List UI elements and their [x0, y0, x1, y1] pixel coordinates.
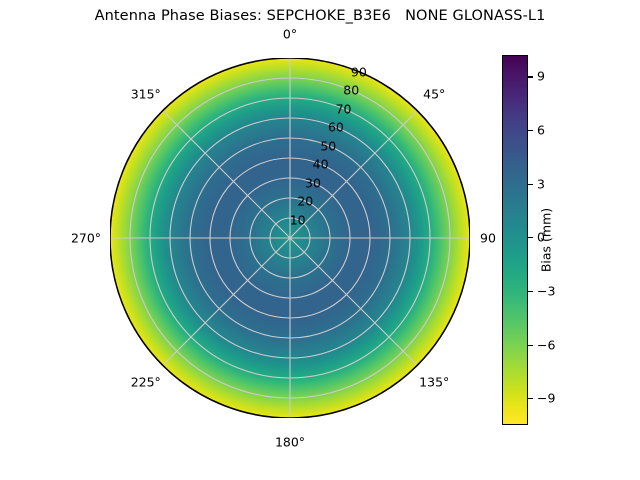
theta-tick-label-90: 90 — [480, 231, 496, 246]
colorbar-tick-label: 6 — [537, 123, 545, 138]
radial-tick-label-40: 40 — [313, 157, 329, 172]
colorbar-tick-mark — [528, 345, 533, 346]
colorbar-tick-label: 9 — [537, 69, 545, 84]
radial-tick-label-90: 90 — [351, 64, 367, 79]
colorbar-tick-mark — [528, 184, 533, 185]
figure-canvas: Antenna Phase Biases: SEPCHOKE_B3E6 NONE… — [0, 0, 640, 480]
colorbar-tick-mark — [528, 291, 533, 292]
theta-tick-label-180: 180° — [275, 435, 305, 450]
colorbar-gradient — [502, 55, 528, 425]
theta-tick-label-135: 135° — [419, 375, 449, 390]
polar-plot[interactable] — [110, 58, 470, 418]
radial-tick-label-70: 70 — [336, 101, 352, 116]
colorbar-axis-label: Bias (mm) — [539, 208, 554, 272]
theta-tick-label-45: 45° — [423, 86, 445, 101]
theta-tick-label-270: 270° — [71, 231, 101, 246]
colorbar-tick-mark — [528, 237, 533, 238]
radial-tick-label-60: 60 — [328, 120, 344, 135]
polar-axes-svg — [110, 58, 470, 418]
theta-tick-label-0: 0° — [283, 27, 297, 42]
colorbar-tick-label: −9 — [537, 391, 555, 406]
radial-tick-label-80: 80 — [343, 83, 359, 98]
colorbar[interactable] — [502, 55, 528, 425]
colorbar-tick-mark — [528, 76, 533, 77]
radial-tick-label-10: 10 — [290, 212, 306, 227]
colorbar-tick-label: −6 — [537, 337, 555, 352]
radial-tick-label-20: 20 — [297, 194, 313, 209]
page-title: Antenna Phase Biases: SEPCHOKE_B3E6 NONE… — [0, 8, 640, 24]
colorbar-tick-mark — [528, 398, 533, 399]
radial-tick-label-30: 30 — [305, 175, 321, 190]
radial-tick-label-50: 50 — [320, 138, 336, 153]
theta-tick-label-315: 315° — [131, 86, 161, 101]
theta-tick-label-225: 225° — [131, 375, 161, 390]
colorbar-tick-mark — [528, 130, 533, 131]
colorbar-tick-label: 3 — [537, 176, 545, 191]
colorbar-tick-label: −3 — [537, 283, 555, 298]
